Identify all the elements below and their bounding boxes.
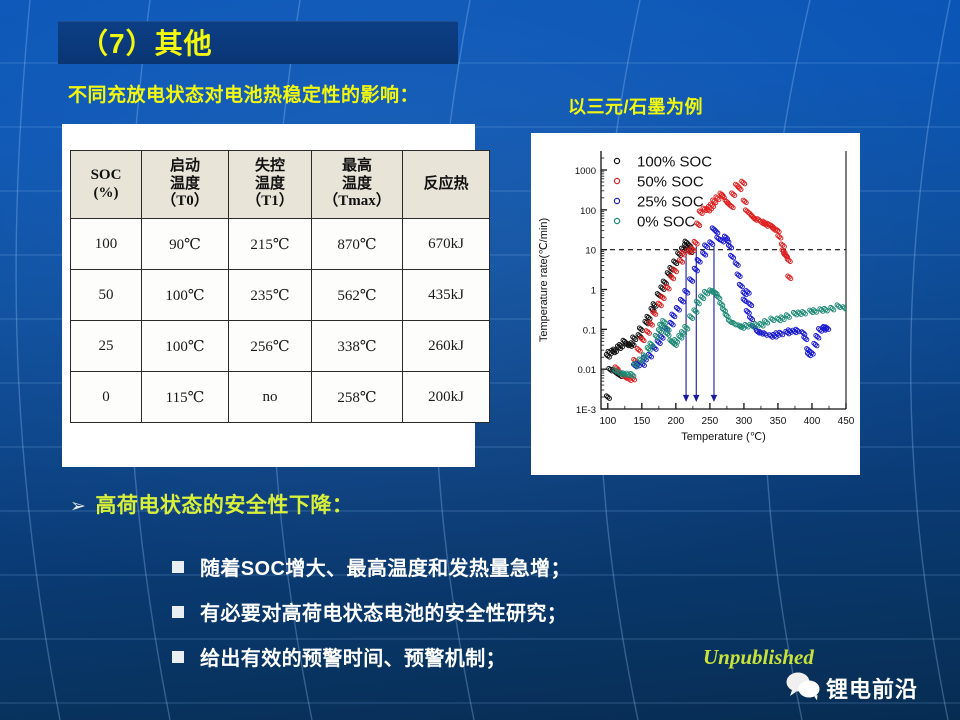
svg-text:0% SOC: 0% SOC xyxy=(637,214,696,231)
svg-text:0.01: 0.01 xyxy=(578,365,597,376)
cell-heat: 200kJ xyxy=(403,372,490,423)
subtitle-right: 以三元/石墨为例 xyxy=(568,93,703,119)
cell-tmax: 870℃ xyxy=(312,219,403,270)
cell-heat: 260kJ xyxy=(403,321,490,372)
cell-soc: 50 xyxy=(71,270,142,321)
cell-t0: 90℃ xyxy=(142,219,229,270)
list-item: 有必要对高荷电状态电池的安全性研究； xyxy=(172,597,567,626)
cell-t1: no xyxy=(229,372,312,423)
svg-text:100: 100 xyxy=(599,416,616,427)
cell-soc: 25 xyxy=(71,321,142,372)
arc-chart: 1E-30.010.111010010001001502002503003504… xyxy=(531,133,860,475)
column-header-heat: 反应热 xyxy=(403,151,490,219)
cell-heat: 435kJ xyxy=(403,270,490,321)
page-title: （7）其他 xyxy=(80,26,460,62)
svg-text:100: 100 xyxy=(580,206,596,217)
header-line: 失控 xyxy=(231,158,309,176)
list-item-label: 给出有效的预警时间、预警机制； xyxy=(200,648,506,670)
column-header-tmax: 最高 温度 （Tmax） xyxy=(312,151,403,219)
header-line: 最高 xyxy=(314,158,400,176)
square-bullet-icon xyxy=(172,606,184,618)
list-item-label: 随着SOC增大、最高温度和发热量急增； xyxy=(200,558,571,580)
header-line: 温度 xyxy=(231,176,309,194)
svg-text:1000: 1000 xyxy=(575,166,596,177)
header-line: 温度 xyxy=(314,176,400,194)
header-line: 温度 xyxy=(144,176,226,194)
bullet-main: ➢高荷电状态的安全性下降： xyxy=(70,489,353,519)
svg-text:1: 1 xyxy=(591,286,596,297)
cell-tmax: 562℃ xyxy=(312,270,403,321)
chart-svg: 1E-30.010.111010010001001502002503003504… xyxy=(531,133,860,475)
subtitle-left: 不同充放电状态对电池热稳定性的影响： xyxy=(68,80,419,107)
cell-t0: 100℃ xyxy=(142,270,229,321)
slide-root: （7）其他 不同充放电状态对电池热稳定性的影响： 以三元/石墨为例 SOC (%… xyxy=(0,0,960,720)
watermark: 锂电前沿 xyxy=(784,668,954,708)
header-line: （Tmax） xyxy=(314,193,400,211)
svg-text:100% SOC: 100% SOC xyxy=(637,154,712,171)
cell-t1: 215℃ xyxy=(229,219,312,270)
svg-text:25% SOC: 25% SOC xyxy=(637,194,704,211)
table-header-row: SOC (%) 启动 温度 （T0） 失控 温度 （T1） 最高 温度 （Tma… xyxy=(71,151,490,219)
soc-thermal-table: SOC (%) 启动 温度 （T0） 失控 温度 （T1） 最高 温度 （Tma… xyxy=(70,150,490,423)
svg-text:Temperature (℃): Temperature (℃) xyxy=(681,431,766,443)
svg-text:350: 350 xyxy=(770,416,787,427)
header-line: 启动 xyxy=(144,158,226,176)
chart-panel: 1E-30.010.111010010001001502002503003504… xyxy=(531,133,860,475)
svg-text:0.1: 0.1 xyxy=(583,325,596,336)
square-bullet-icon xyxy=(172,651,184,663)
header-line: (%) xyxy=(73,185,139,203)
cell-t1: 235℃ xyxy=(229,270,312,321)
table-row: 0 115℃ no 258℃ 200kJ xyxy=(71,372,490,423)
square-bullet-icon xyxy=(172,561,184,573)
cell-t0: 115℃ xyxy=(142,372,229,423)
wechat-icon xyxy=(784,670,822,700)
column-header-t0: 启动 温度 （T0） xyxy=(142,151,229,219)
svg-text:450: 450 xyxy=(838,416,855,427)
list-item: 给出有效的预警时间、预警机制； xyxy=(172,642,506,671)
header-line: （T1） xyxy=(231,193,309,211)
list-item-label: 有必要对高荷电状态电池的安全性研究； xyxy=(200,603,567,625)
header-line: （T0） xyxy=(144,193,226,211)
svg-text:50% SOC: 50% SOC xyxy=(637,174,704,191)
watermark-label: 锂电前沿 xyxy=(826,672,918,704)
cell-tmax: 338℃ xyxy=(312,321,403,372)
svg-text:400: 400 xyxy=(804,416,821,427)
svg-text:10: 10 xyxy=(585,246,596,257)
header-line: SOC xyxy=(73,167,139,185)
column-header-t1: 失控 温度 （T1） xyxy=(229,151,312,219)
table-panel: SOC (%) 启动 温度 （T0） 失控 温度 （T1） 最高 温度 （Tma… xyxy=(62,124,475,467)
svg-text:300: 300 xyxy=(736,416,753,427)
cell-t0: 100℃ xyxy=(142,321,229,372)
svg-text:1E-3: 1E-3 xyxy=(576,405,596,416)
table-row: 50 100℃ 235℃ 562℃ 435kJ xyxy=(71,270,490,321)
cell-soc: 100 xyxy=(71,219,142,270)
bullet-main-label: 高荷电状态的安全性下降： xyxy=(95,494,353,517)
cell-soc: 0 xyxy=(71,372,142,423)
column-header-soc: SOC (%) xyxy=(71,151,142,219)
cell-heat: 670kJ xyxy=(403,219,490,270)
svg-text:200: 200 xyxy=(668,416,685,427)
list-item: 随着SOC增大、最高温度和发热量急增； xyxy=(172,552,571,581)
arrow-bullet-icon: ➢ xyxy=(70,496,86,517)
table-row: 25 100℃ 256℃ 338℃ 260kJ xyxy=(71,321,490,372)
cell-t1: 256℃ xyxy=(229,321,312,372)
cell-tmax: 258℃ xyxy=(312,372,403,423)
svg-text:250: 250 xyxy=(702,416,719,427)
header-line: 反应热 xyxy=(405,176,487,194)
svg-text:Temperature rate(℃/min): Temperature rate(℃/min) xyxy=(538,218,550,342)
table-row: 100 90℃ 215℃ 870℃ 670kJ xyxy=(71,219,490,270)
unpublished-stamp: Unpublished xyxy=(703,645,814,670)
svg-text:150: 150 xyxy=(633,416,650,427)
